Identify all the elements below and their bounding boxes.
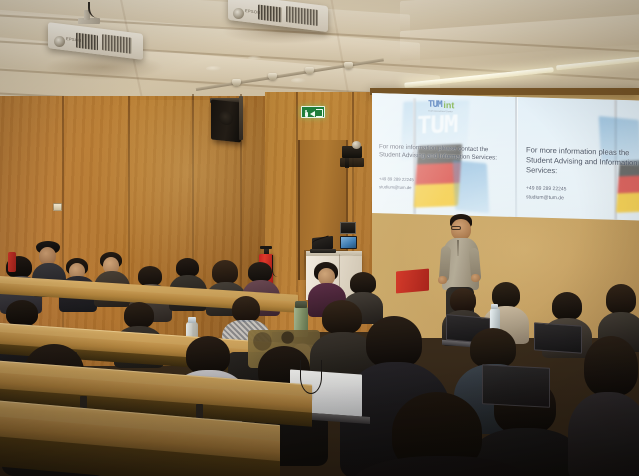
podium-cable: [338, 248, 356, 256]
speaker-cone: [219, 110, 233, 125]
slide-left-phone: +49 89 289 22245: [379, 176, 414, 183]
tum-logo-suffix: int: [443, 101, 454, 110]
track-spotlight: [268, 73, 277, 80]
presenter-left-hand: [438, 276, 447, 284]
presenter-sweater-zip: [457, 240, 459, 256]
slide-right: For more information pleas the Student A…: [518, 97, 639, 220]
student-hair: [186, 336, 230, 374]
student-hair: [124, 302, 154, 328]
extinguisher-handle: [260, 246, 272, 249]
slide-right-phone: +49 89 289 22245: [526, 185, 566, 193]
student-hair: [552, 292, 582, 320]
student-hair: [366, 316, 422, 368]
presenter-glasses: [451, 226, 461, 230]
red-folder: [396, 269, 429, 294]
slide-tum-watermark: TUM: [417, 110, 458, 140]
projector-lens: [233, 8, 244, 19]
bottle-cap: [491, 304, 498, 309]
red-water-bottle: [8, 252, 16, 272]
track-spotlight: [305, 67, 314, 74]
podium-shelf-box: [340, 222, 356, 234]
monitor-screen: [341, 237, 356, 248]
exit-door-icon: [316, 109, 323, 117]
laptop-screen: [482, 364, 550, 408]
lecture-hall-photo: EPSON EPSON: [0, 0, 639, 476]
slide-right-email: studium@tum.de: [526, 194, 564, 202]
slide-left: TUM For more information please contact …: [372, 93, 515, 217]
camera-lens: [352, 141, 361, 149]
student-hair-long: [232, 296, 260, 322]
slide-left-email: studium@tum.de: [379, 184, 412, 191]
student-torso: [568, 392, 639, 476]
ceiling-vent: [248, 56, 261, 60]
bag-strap: [300, 360, 322, 394]
slide-bavarian-flag: [453, 160, 490, 213]
ceiling-vent: [291, 78, 306, 83]
lectern-laptop-base: [310, 249, 336, 253]
student-hair-long: [584, 336, 638, 396]
ceiling-vent: [206, 66, 222, 71]
projector-right: EPSON: [228, 0, 333, 32]
track-spotlight: [344, 62, 353, 69]
student-hair: [248, 262, 272, 282]
projector-left: EPSON: [48, 22, 148, 64]
student-hair: [350, 272, 376, 294]
slide-left-heading: For more information please contact the …: [379, 143, 499, 163]
wall-speaker: [211, 99, 241, 142]
wall-seam: [62, 96, 64, 358]
speaker-mount-arm: [239, 96, 243, 140]
thermos-lid: [295, 301, 307, 308]
student-hair: [6, 300, 38, 326]
screen-panel-divider: [515, 97, 517, 217]
slide-right-heading: For more information pleas the Student A…: [526, 145, 638, 178]
exit-icon-body: [305, 112, 308, 117]
student-hair: [138, 266, 162, 286]
tum-logo-mark: TUM: [428, 101, 442, 110]
student-hair-long: [606, 284, 636, 314]
student-hair-long: [450, 288, 476, 312]
laptop-screen: [534, 322, 582, 353]
bottle-cap: [188, 317, 196, 323]
student-hair-long: [322, 300, 362, 334]
projection-screen: TUM For more information please contact …: [372, 93, 639, 220]
exit-sign: [301, 106, 325, 118]
light-switch[interactable]: [53, 203, 62, 211]
extinguisher-hose: [272, 255, 278, 277]
student-hair: [470, 328, 516, 368]
wall-camera-base: [340, 158, 364, 167]
projector-lens: [54, 36, 65, 47]
student-hair-long: [212, 260, 238, 284]
presenter-right-hand: [471, 274, 480, 282]
projector-grille: [258, 5, 282, 23]
tum-int-logo: TUM int TUM International Center: [428, 101, 454, 111]
exit-arrow-icon: [310, 111, 315, 117]
track-spotlight: [232, 79, 241, 86]
